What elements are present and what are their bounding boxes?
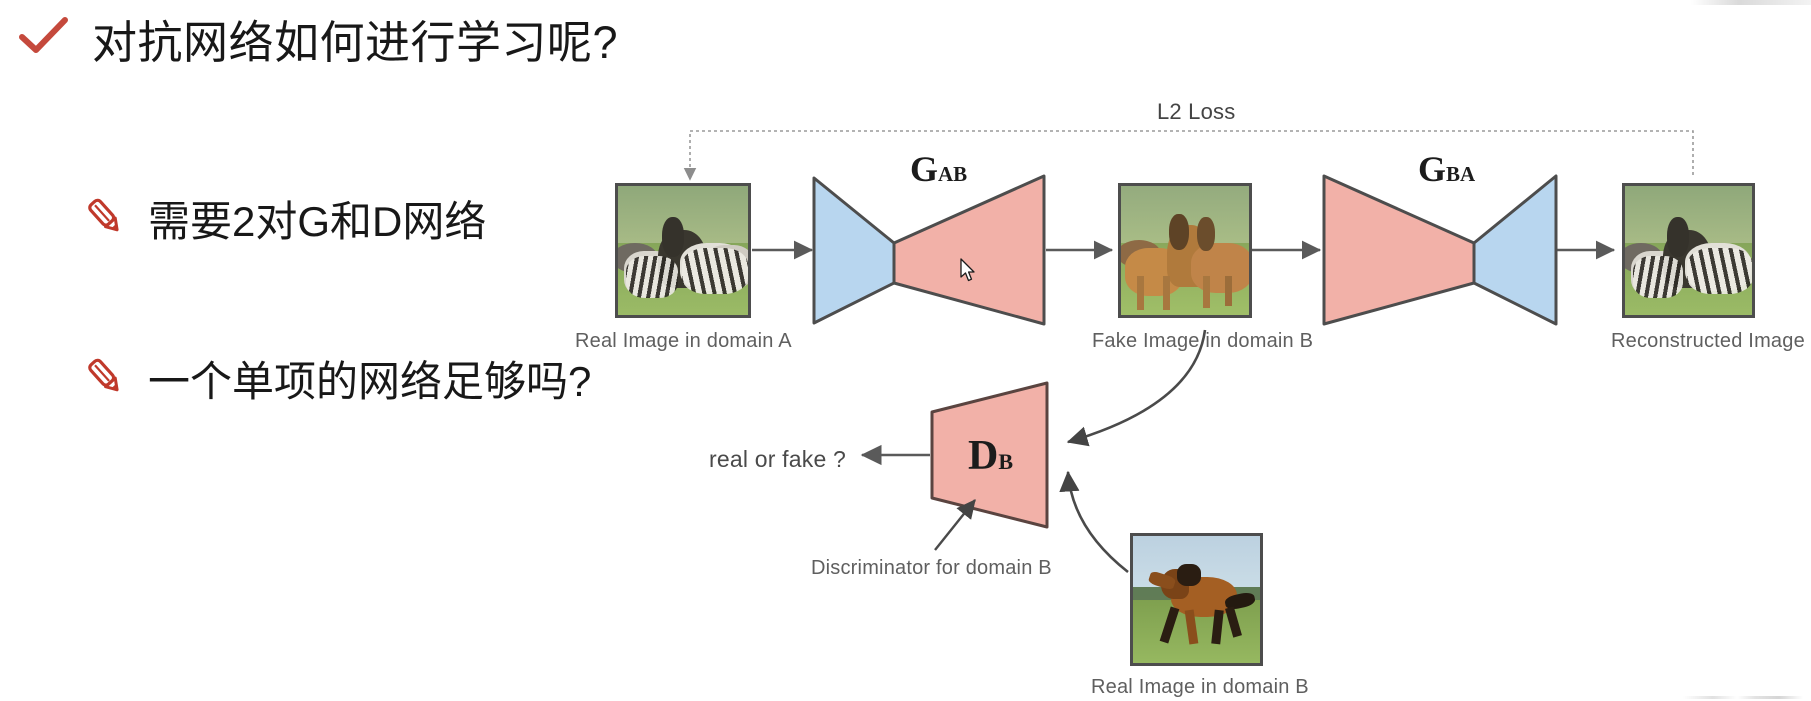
- slide-canvas: 对抗网络如何进行学习呢? 需要2对G和D网络: [0, 0, 1811, 701]
- window-edge-top-right: [1691, 0, 1811, 5]
- caption-real-image-domain-b: Real Image in domain B: [1091, 676, 1309, 699]
- bullet-label-2: 需要2对G和D网络: [148, 188, 486, 249]
- discriminator-db-subscript: B: [998, 449, 1013, 474]
- caption-real-or-fake: real or fake ?: [709, 446, 846, 473]
- caption-real-image-domain-a: Real Image in domain A: [575, 330, 792, 353]
- image-horse-real-domain-b: [1130, 533, 1263, 666]
- bullet-item-2: 需要2对G和D网络: [82, 188, 486, 249]
- bullet-item-3: 一个单项的网络足够吗?: [82, 348, 591, 409]
- discriminator-db-shape: [932, 383, 1047, 527]
- generator-gba-label: GBA: [1418, 148, 1475, 190]
- arrow-discriminator-note: [935, 500, 975, 550]
- generator-gba-letter: G: [1418, 149, 1446, 189]
- generator-gab-letter: G: [910, 149, 938, 189]
- caption-reconstructed-image: Reconstructed Image: [1611, 330, 1805, 353]
- generator-gba-subscript: BA: [1446, 162, 1475, 186]
- arrow-realB-to-db: [1068, 472, 1128, 572]
- window-edge-bottom-right: [1683, 696, 1803, 699]
- pencil-icon: [82, 194, 126, 243]
- bullet-label-3: 一个单项的网络足够吗?: [148, 348, 591, 409]
- mouse-cursor: [960, 258, 978, 284]
- image-zebras-reconstructed: [1622, 183, 1755, 318]
- l2-loss-dashed-path: [690, 131, 1693, 180]
- generator-gba-shape: [1324, 176, 1556, 324]
- bullet-item-1: 对抗网络如何进行学习呢?: [18, 6, 618, 71]
- generator-gab-subscript: AB: [938, 162, 967, 186]
- l2-loss-label: L2 Loss: [1157, 99, 1235, 125]
- generator-gab-shape: [814, 176, 1044, 324]
- caption-fake-image-domain-b: Fake Image in domain B: [1092, 330, 1313, 353]
- generator-gab-label: GAB: [910, 148, 967, 190]
- caption-discriminator-note: Discriminator for domain B: [811, 557, 1052, 580]
- discriminator-db-letter: D: [968, 433, 998, 479]
- pencil-icon: [82, 354, 126, 403]
- bullet-label-1: 对抗网络如何进行学习呢?: [92, 6, 618, 71]
- arrow-fakeB-to-db: [1068, 330, 1205, 442]
- image-horses-domain-b: [1118, 183, 1252, 318]
- discriminator-db-label: DB: [968, 432, 1013, 480]
- image-zebras-domain-a: [615, 183, 751, 318]
- check-icon: [18, 15, 70, 62]
